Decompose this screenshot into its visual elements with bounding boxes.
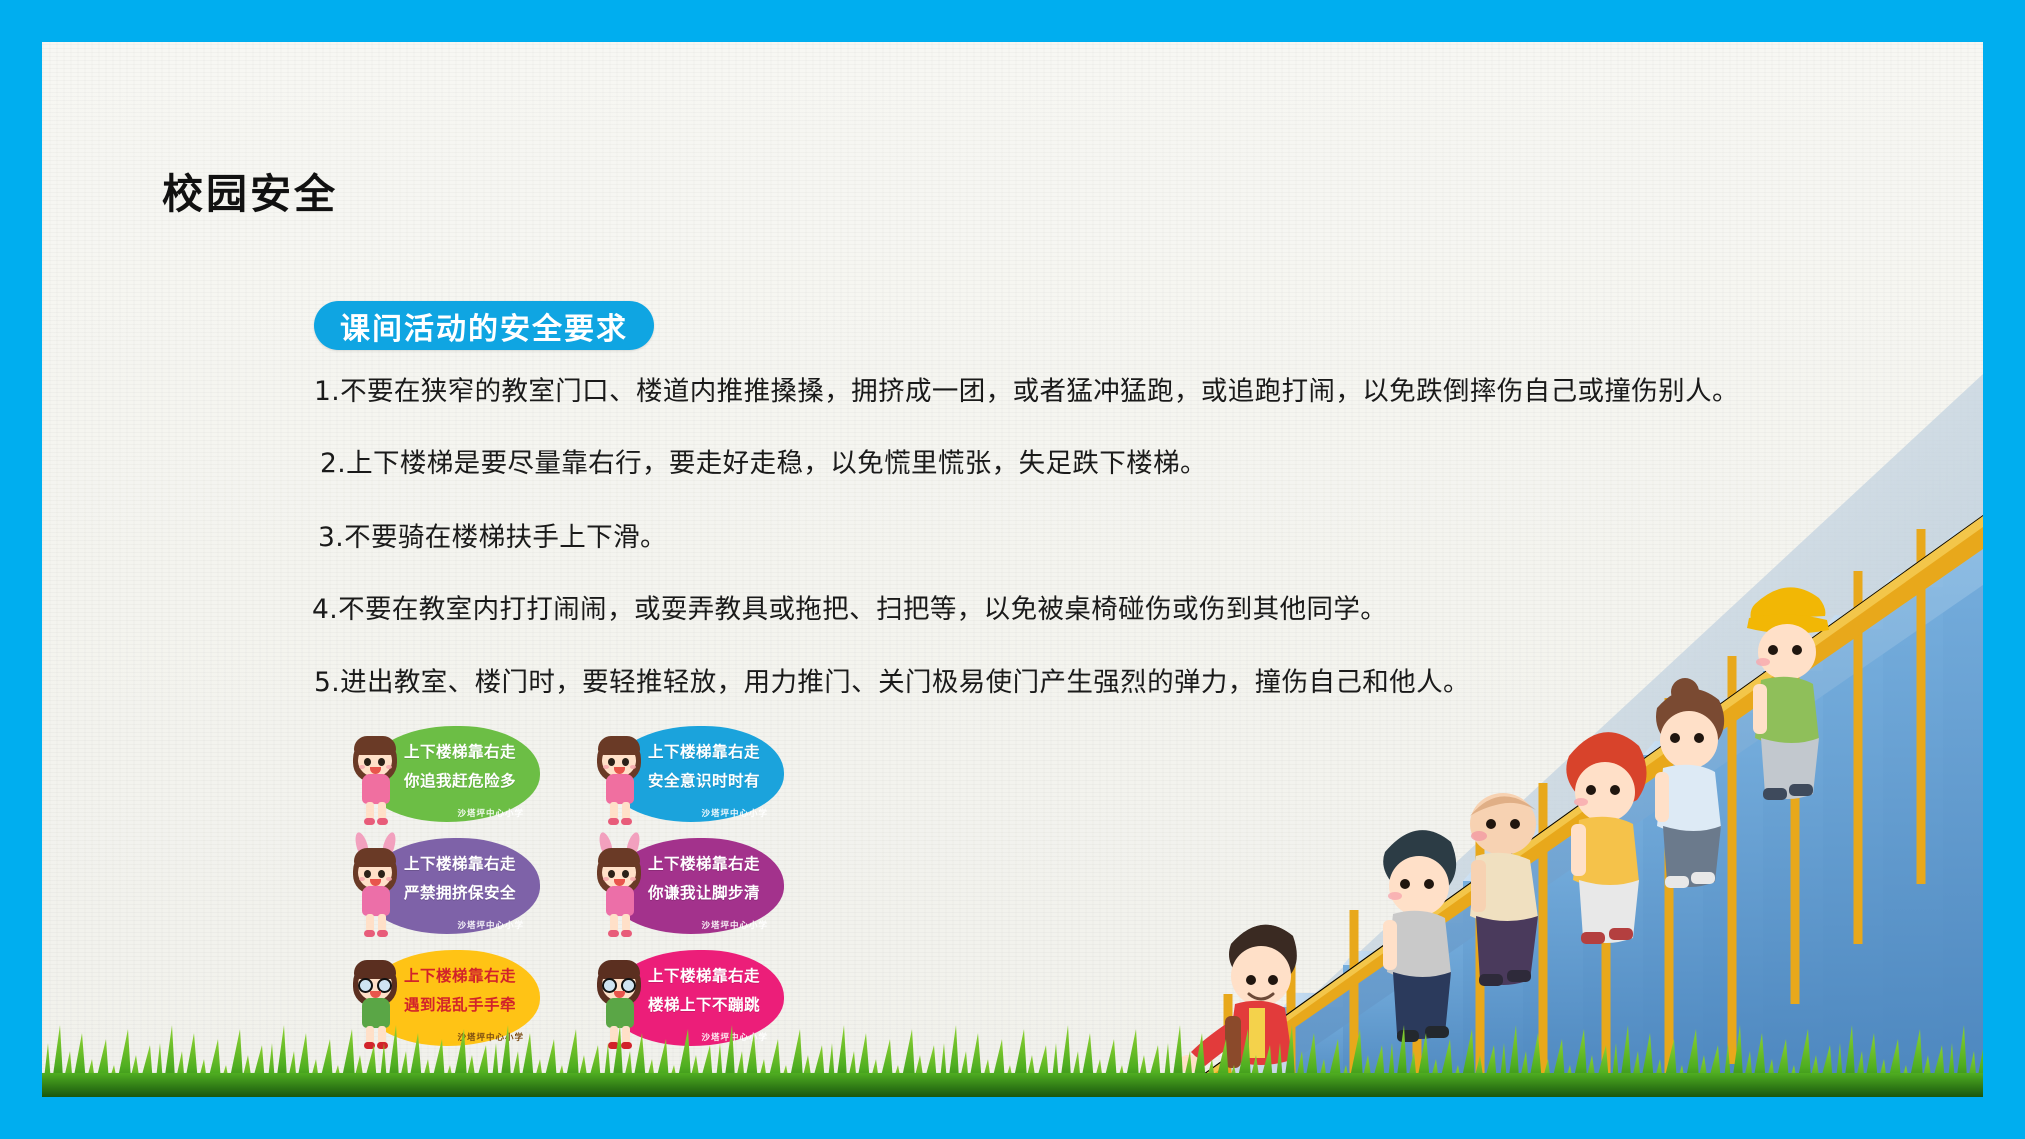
poster-line-1: 上下楼梯靠右走 — [404, 743, 516, 761]
poster-text: 上下楼梯靠右走 安全意识时时有 — [648, 738, 784, 795]
poster-line-1: 上下楼梯靠右走 — [648, 967, 760, 985]
poster-kid-icon — [346, 834, 408, 938]
section-badge: 课间活动的安全要求 — [314, 301, 654, 350]
poster-text: 上下楼梯靠右走 你追我赶危险多 — [404, 738, 540, 795]
poster-school-name: 沙塔坪中心小学 — [701, 919, 768, 931]
poster-line-2: 你谦我让脚步清 — [648, 879, 784, 908]
safety-poster-grid: 上下楼梯靠右走 你追我赶危险多 沙塔坪中心小学 上下楼梯靠右走 安全意识时时有 — [342, 720, 786, 1052]
rule-item: 4.不要在教室内打打闹闹，或耍弄教具或拖把、扫把等，以免被桌椅碰伤或伤到其他同学… — [312, 594, 1620, 626]
poster-line-1: 上下楼梯靠右走 — [404, 855, 516, 873]
poster-line-1: 上下楼梯靠右走 — [648, 743, 760, 761]
page-title: 校园安全 — [162, 160, 338, 220]
poster-kid-icon — [590, 834, 652, 938]
poster-school-name: 沙塔坪中心小学 — [457, 807, 524, 819]
poster-text: 上下楼梯靠右走 楼梯上下不蹦跳 — [648, 962, 784, 1019]
rule-item: 3.不要骑在楼梯扶手上下滑。 — [318, 522, 1620, 554]
poster-line-2: 楼梯上下不蹦跳 — [648, 991, 784, 1020]
poster-line-2: 严禁拥挤保安全 — [404, 879, 540, 908]
poster-text: 上下楼梯靠右走 遇到混乱手手牵 — [404, 962, 540, 1019]
poster-card: 上下楼梯靠右走 你追我赶危险多 沙塔坪中心小学 — [342, 720, 542, 828]
poster-school-name: 沙塔坪中心小学 — [701, 807, 768, 819]
poster-line-2: 安全意识时时有 — [648, 767, 784, 796]
poster-school-name: 沙塔坪中心小学 — [457, 919, 524, 931]
poster-line-2: 遇到混乱手手牵 — [404, 991, 540, 1020]
poster-card: 上下楼梯靠右走 你谦我让脚步清 沙塔坪中心小学 — [586, 832, 786, 940]
child-boy-bald-green — [1470, 793, 1538, 986]
slide-root: 校园安全 课间活动的安全要求 1.不要在狭窄的教室门口、楼道内推推搡搡，拥挤成一… — [0, 0, 2025, 1139]
grass-strip — [42, 1017, 1983, 1097]
poster-kid-icon — [590, 722, 652, 826]
poster-text: 上下楼梯靠右走 严禁拥挤保安全 — [404, 850, 540, 907]
poster-text: 上下楼梯靠右走 你谦我让脚步清 — [648, 850, 784, 907]
poster-card: 上下楼梯靠右走 严禁拥挤保安全 沙塔坪中心小学 — [342, 832, 542, 940]
slide-paper-background: 校园安全 课间活动的安全要求 1.不要在狭窄的教室门口、楼道内推推搡搡，拥挤成一… — [42, 42, 1983, 1097]
rule-item: 2.上下楼梯是要尽量靠右行，要走好走稳，以免慌里慌张，失足跌下楼梯。 — [320, 448, 1620, 480]
rule-item: 5.进出教室、楼门时，要轻推轻放，用力推门、关门极易使门产生强烈的弹力，撞伤自己… — [314, 667, 1620, 699]
child-girl-bun-brown — [1655, 678, 1724, 888]
poster-line-1: 上下楼梯靠右走 — [648, 855, 760, 873]
poster-kid-icon — [346, 722, 408, 826]
rule-item: 1.不要在狭窄的教室门口、楼道内推推搡搡，拥挤成一团，或者猛冲猛跑，或追跑打闹，… — [314, 376, 1620, 408]
safety-rules-list: 1.不要在狭窄的教室门口、楼道内推推搡搡，拥挤成一团，或者猛冲猛跑，或追跑打闹，… — [310, 376, 1620, 700]
poster-card: 上下楼梯靠右走 安全意识时时有 沙塔坪中心小学 — [586, 720, 786, 828]
poster-line-2: 你追我赶危险多 — [404, 767, 540, 796]
poster-line-1: 上下楼梯靠右走 — [404, 967, 516, 985]
